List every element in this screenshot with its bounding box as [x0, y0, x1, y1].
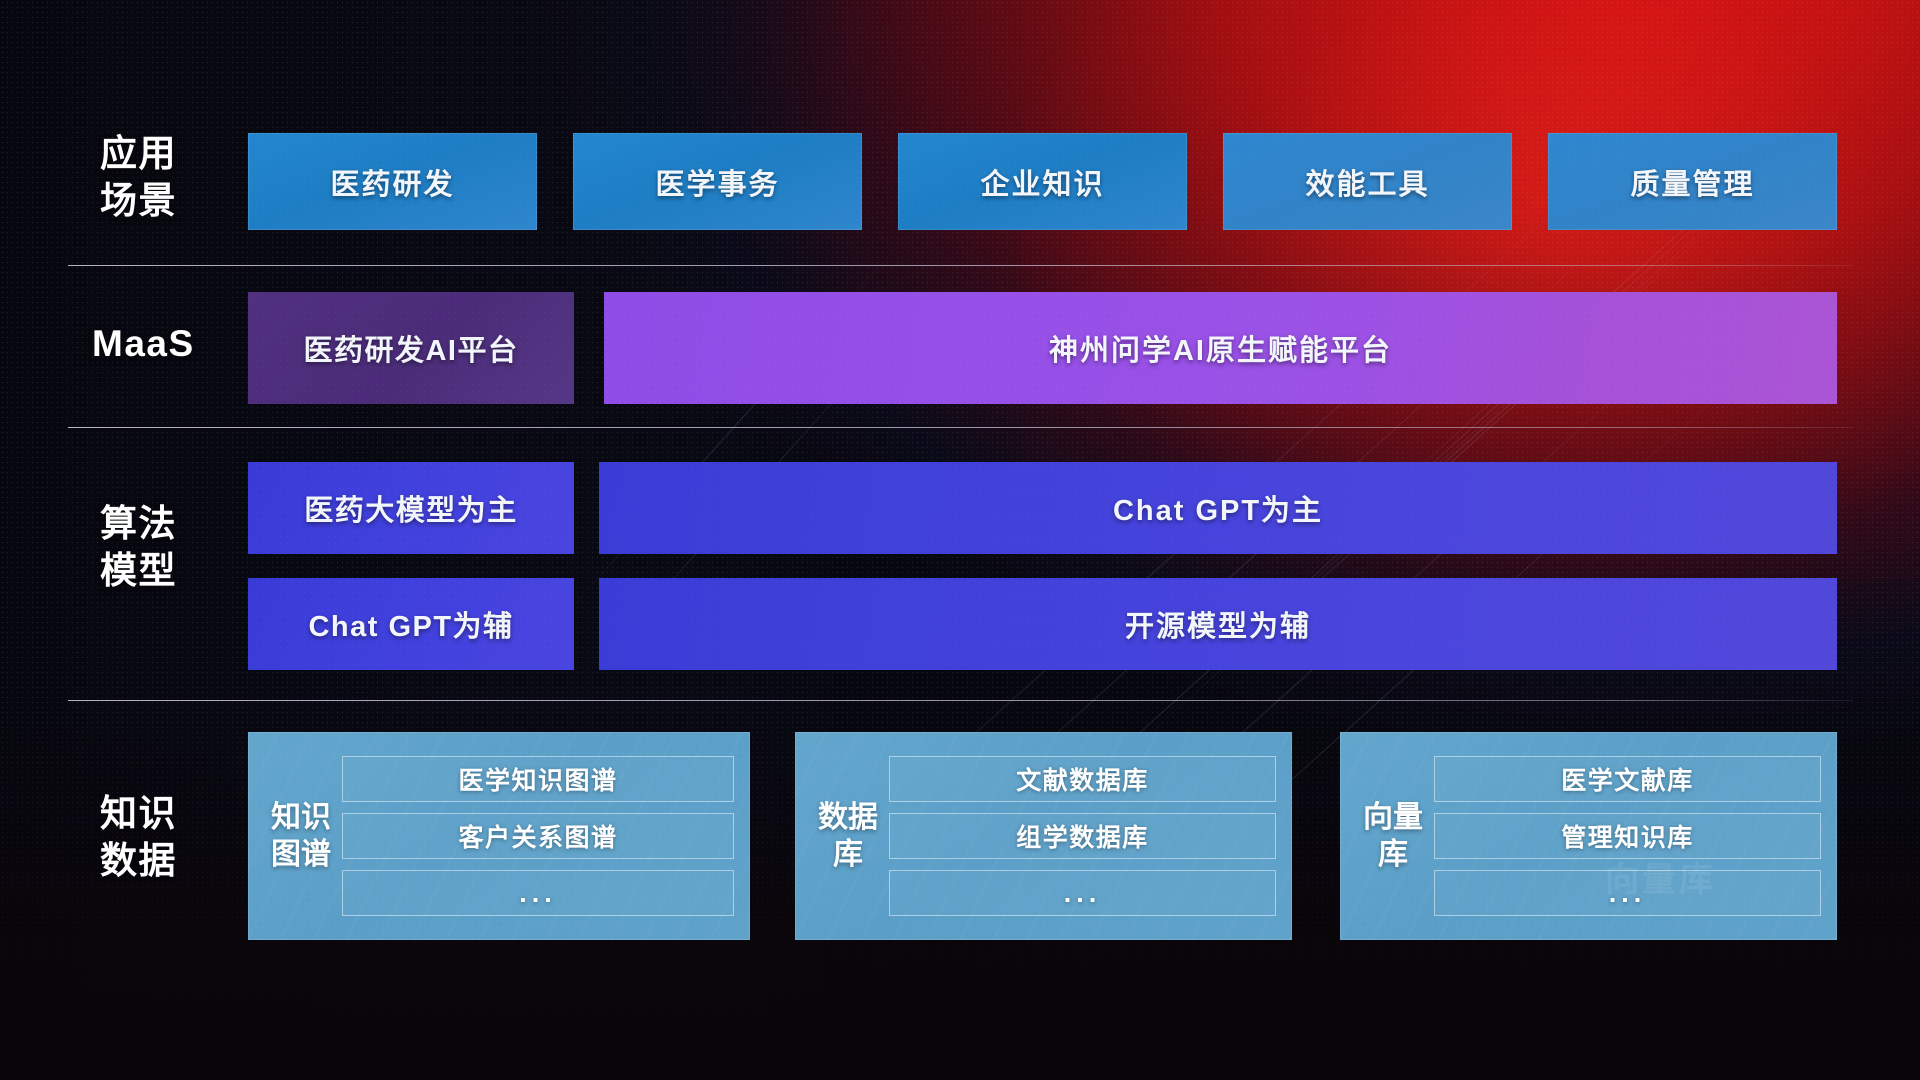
knowledge-item[interactable]: 医学知识图谱	[342, 756, 734, 802]
knowledge-group-knowledge-graph[interactable]: 知识 图谱 医学知识图谱 客户关系图谱 ...	[248, 732, 750, 940]
algo-primary-right-label: Chat GPT为主	[1113, 487, 1323, 529]
algo-primary-left-label: 医药大模型为主	[304, 487, 518, 529]
app-scenario-box-pharma-rnd[interactable]: 医药研发	[248, 133, 537, 230]
algo-box-chatgpt-secondary[interactable]: Chat GPT为辅	[248, 578, 574, 670]
app-scenario-label: 质量管理	[1630, 161, 1754, 203]
diagram-frame: 应用 场景 MaaS 算法 模型 知识 数据 医药研发 医学事务 企业知识 效能…	[0, 0, 1920, 1080]
row-label-algorithm-models: 算法 模型	[100, 500, 177, 594]
knowledge-item[interactable]: 客户关系图谱	[342, 813, 734, 859]
algo-secondary-right-label: 开源模型为辅	[1125, 603, 1311, 645]
divider-maas	[68, 427, 1853, 428]
maas-right-label: 神州问学AI原生赋能平台	[1049, 327, 1392, 369]
knowledge-group-vector-store[interactable]: 向量库 向量 库 医学文献库 管理知识库 ...	[1340, 732, 1837, 940]
knowledge-item-more[interactable]: ...	[889, 870, 1276, 916]
knowledge-item[interactable]: 组学数据库	[889, 813, 1276, 859]
app-scenario-box-quality-management[interactable]: 质量管理	[1548, 133, 1837, 230]
app-scenario-label: 医药研发	[330, 161, 454, 203]
knowledge-item[interactable]: 管理知识库	[1434, 813, 1821, 859]
app-scenario-box-efficiency-tools[interactable]: 效能工具	[1223, 133, 1512, 230]
algo-box-opensource-secondary[interactable]: 开源模型为辅	[599, 578, 1837, 670]
app-scenario-box-medical-affairs[interactable]: 医学事务	[573, 133, 862, 230]
knowledge-item[interactable]: 医学文献库	[1434, 756, 1821, 802]
row-label-knowledge-data: 知识 数据	[100, 790, 177, 884]
knowledge-group-category-label: 知识 图谱	[270, 799, 332, 873]
maas-box-shenzhou-wenxue-platform[interactable]: 神州问学AI原生赋能平台	[604, 292, 1837, 404]
app-scenario-label: 企业知识	[980, 161, 1104, 203]
knowledge-group-category-label: 数据 库	[817, 799, 879, 873]
knowledge-item-more[interactable]: ...	[1434, 870, 1821, 916]
knowledge-group-items: 医学知识图谱 客户关系图谱 ...	[332, 756, 750, 916]
row-label-maas: MaaS	[92, 320, 195, 367]
knowledge-item-more[interactable]: ...	[342, 870, 734, 916]
maas-left-label: 医药研发AI平台	[303, 327, 518, 369]
maas-box-pharma-ai-platform[interactable]: 医药研发AI平台	[248, 292, 574, 404]
app-scenario-label: 效能工具	[1305, 161, 1429, 203]
algo-box-pharma-large-model-primary[interactable]: 医药大模型为主	[248, 462, 574, 554]
knowledge-group-database[interactable]: 数据 库 文献数据库 组学数据库 ...	[795, 732, 1292, 940]
divider-algorithm	[68, 700, 1853, 701]
knowledge-group-category-label: 向量 库	[1362, 799, 1424, 873]
knowledge-item[interactable]: 文献数据库	[889, 756, 1276, 802]
knowledge-group-items: 文献数据库 组学数据库 ...	[879, 756, 1292, 916]
app-scenario-box-enterprise-knowledge[interactable]: 企业知识	[898, 133, 1187, 230]
row-label-application-scenarios: 应用 场景	[100, 130, 177, 224]
algo-box-chatgpt-primary[interactable]: Chat GPT为主	[599, 462, 1837, 554]
divider-applications	[68, 265, 1853, 266]
app-scenario-label: 医学事务	[655, 161, 779, 203]
algo-secondary-left-label: Chat GPT为辅	[308, 603, 513, 645]
knowledge-group-items: 医学文献库 管理知识库 ...	[1424, 756, 1837, 916]
